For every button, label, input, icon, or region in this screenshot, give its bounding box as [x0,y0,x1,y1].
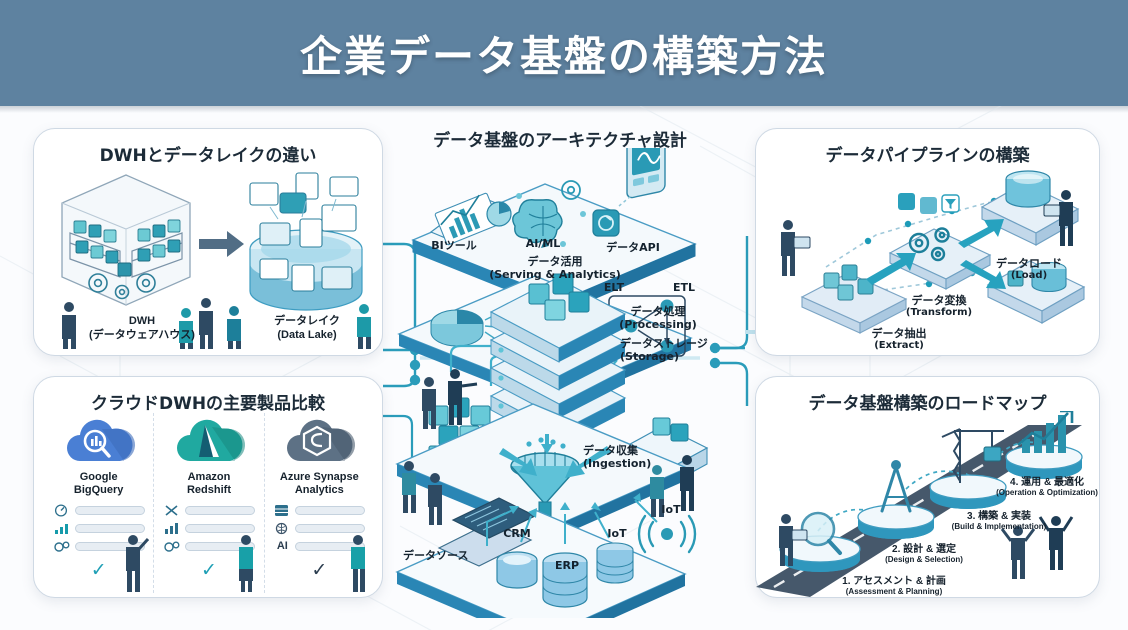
infographic-canvas: 企業データ基盤の構築方法 [0,0,1128,630]
person-icon [232,531,262,593]
panel-cloud-dwh-comparison: クラウドDWHの主要製品比較 Google BigQuery [33,376,383,598]
label-crm: CRM [487,528,547,541]
metric-track [75,506,145,515]
metric-track [185,506,255,515]
roadmap-step-en: (Operation & Optimization) [992,488,1102,497]
label-serving-layer: データ活用 (Serving & Analytics) [475,256,635,282]
check-icon-redshift: ✓ [201,561,217,580]
product-name-line2: Redshift [187,484,231,496]
transform-tool-chips-icon [898,193,959,214]
processing-pie-chart-icon [431,310,483,346]
dwh-label-ja: DWH [129,315,155,327]
product-name-line1: Amazon [188,471,231,483]
product-name-line2: Analytics [295,484,344,496]
stage-label-en: (Transform) [884,307,994,319]
pipeline-stage-transform: データ変換 (Transform) [884,294,994,319]
product-name-redshift: Amazon Redshift [187,471,231,497]
elt-label: ELT [597,282,631,295]
person-celebrating-icon [1002,526,1034,579]
label-bi-tool: BIツール [419,240,489,253]
ai-ml-label: AI/ML [508,238,578,251]
panel-data-pipeline: データパイプラインの構築 [755,128,1100,356]
datalake-label-ja: データレイク [274,315,340,327]
roadmap-step-en: (Assessment & Planning) [814,587,974,596]
metric-track [295,506,365,515]
panel-roadmap: データ基盤構築のロードマップ [755,376,1100,598]
person-icon [119,531,149,593]
storage-layer-en: (Storage) [620,351,730,364]
product-column-redshift[interactable]: Amazon Redshift [153,413,263,593]
label-processing-layer: データ処理 (Processing) [603,306,713,332]
check-icon-synapse: ✓ [311,561,327,580]
brain-icon [273,522,291,535]
product-name-synapse: Azure Synapse Analytics [280,471,359,497]
pipeline-illustration [756,161,1101,351]
database-table-icon [273,504,291,517]
panel-cloud-title: クラウドDWHの主要製品比較 [34,389,382,414]
gears-icon [163,540,181,553]
label-iot-db: IoT [587,528,647,541]
roadmap-step-ja: 1. アセスメント & 計画 [814,572,974,587]
tools-icon [163,504,181,517]
metric-row [163,503,255,517]
roadmap-step-3-label: 3. 構築 & 実装 (Build & Implementation) [924,507,1074,531]
floating-documents-icon [250,173,358,291]
panel-dwh-vs-datalake: DWHとデータレイクの違い [33,128,383,356]
ai-text-icon: AI [273,540,291,553]
crm-label: CRM [487,528,547,541]
person-icon [344,531,374,593]
metric-row [53,503,145,517]
cloud-product-columns: Google BigQuery [44,413,374,593]
roadmap-step-1-label: 1. アセスメント & 計画 (Assessment & Planning) [814,572,974,596]
pipeline-stage-load: データロード (Load) [974,257,1084,282]
data-api-label: データAPI [593,242,673,255]
label-sources-layer: データソース [403,550,513,563]
iot-db-label: IoT [587,528,647,541]
roadmap-step-ja: 2. 設計 & 選定 [854,540,994,555]
roadmap-step-2-label: 2. 設計 & 選定 (Design & Selection) [854,540,994,564]
bar-chart-icon [163,522,181,535]
person-icon [227,306,241,349]
ingestion-layer-en: (Ingestion) [583,458,693,471]
datalake-label: データレイク (Data Lake) [252,315,362,343]
gears-icon [53,540,71,553]
arrow-right-icon [199,231,244,257]
page-title: 企業データ基盤の構築方法 [300,23,828,84]
roadmap-step-ja: 4. 運用 & 最適化 [992,473,1102,488]
roadmap-step-en: (Build & Implementation) [924,522,1074,531]
google-bigquery-cloud-icon [62,415,136,467]
azure-synapse-cloud-icon [282,415,356,467]
product-name-line1: Google [80,471,118,483]
etl-label: ETL [667,282,701,295]
label-ingestion-layer: データ収集 (Ingestion) [583,445,693,471]
stage-label-ja: データロード [974,257,1084,270]
serving-layer-en: (Serving & Analytics) [475,269,635,282]
product-column-synapse[interactable]: Azure Synapse Analytics [264,413,374,593]
roadmap-illustration [756,411,1101,597]
roadmap-step-ja: 3. 構築 & 実装 [924,507,1074,522]
label-elt: ELT [597,282,631,295]
processing-layer-en: (Processing) [603,319,713,332]
datalake-label-en: (Data Lake) [277,329,336,341]
label-data-api: データAPI [593,242,673,255]
person-icon [62,302,76,349]
label-erp: ERP [537,560,597,573]
architecture-illustration [395,148,725,618]
amazon-redshift-cloud-icon [172,415,246,467]
sources-layer-ja: データソース [403,550,513,563]
architecture-diagram: データ基盤のアーキテクチャ設計 [395,120,725,620]
stage-label-en: (Extract) [844,340,954,352]
label-storage-layer: データストレージ (Storage) [620,338,730,364]
stage-label-ja: データ抽出 [844,327,954,340]
roadmap-step-4-label: 4. 運用 & 最適化 (Operation & Optimization) [992,473,1102,497]
person-icon [781,220,810,276]
product-column-bigquery[interactable]: Google BigQuery [44,413,153,593]
label-ai-ml: AI/ML [508,238,578,251]
dwh-label: DWH (データウェアハウス) [82,315,202,343]
warehouse-room-icon [62,175,190,305]
check-icon-bigquery: ✓ [91,561,107,580]
header-banner: 企業データ基盤の構築方法 [0,0,1128,106]
label-iot-signal: IoT [641,504,701,517]
product-name-line1: Azure Synapse [280,471,359,483]
pipeline-stage-extract: データ抽出 (Extract) [844,327,954,352]
iot-signal-label: IoT [641,504,701,517]
label-etl: ETL [667,282,701,295]
iot-database-icon [597,543,633,583]
metric-row [273,503,365,517]
product-name-line2: BigQuery [74,484,124,496]
roadmap-step-en: (Design & Selection) [854,555,994,564]
erp-label: ERP [537,560,597,573]
speedometer-icon [53,504,71,517]
bi-tool-label: BIツール [419,240,489,253]
stage-label-ja: データ変換 [884,294,994,307]
dwh-label-en: (データウェアハウス) [89,329,195,341]
stage-label-en: (Load) [974,270,1084,282]
iot-wifi-signal-icon [639,516,695,552]
bar-chart-growth-icon [53,522,71,535]
product-name-bigquery: Google BigQuery [74,471,124,497]
